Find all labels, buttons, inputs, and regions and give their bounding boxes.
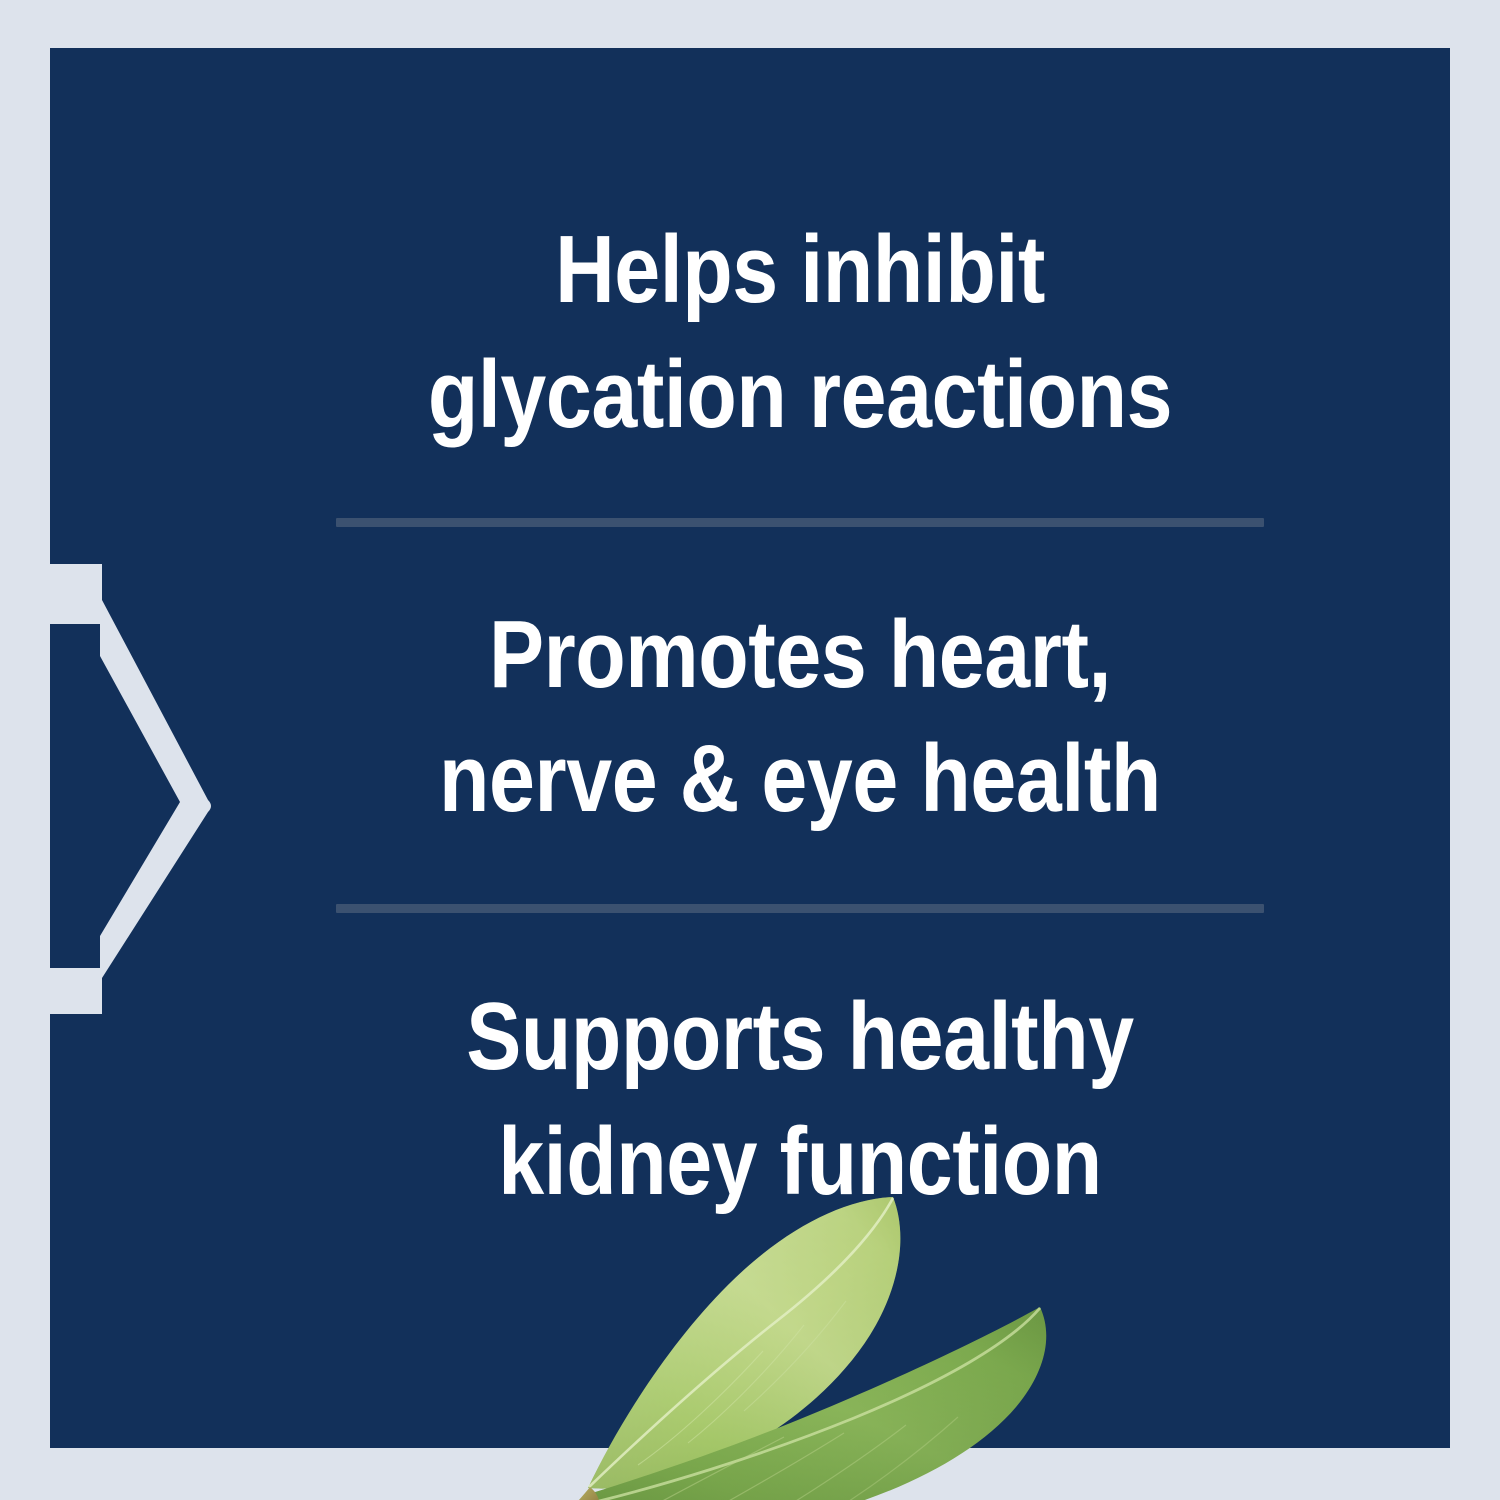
benefit-divider-1 bbox=[336, 518, 1264, 527]
navy-panel: Helps inhibit glycation reactions Promot… bbox=[50, 48, 1450, 1448]
leaf-stem bbox=[564, 1487, 599, 1500]
benefits-list: Helps inhibit glycation reactions Promot… bbox=[50, 48, 1450, 1288]
benefit-item-glycation: Helps inhibit glycation reactions bbox=[370, 208, 1230, 458]
benefit-divider-2 bbox=[336, 904, 1264, 913]
benefit-item-heart-nerve-eye: Promotes heart, nerve & eye health bbox=[370, 593, 1230, 843]
benefit-item-kidney: Supports healthy kidney function bbox=[370, 975, 1230, 1225]
product-benefits-graphic: Helps inhibit glycation reactions Promot… bbox=[0, 0, 1500, 1500]
